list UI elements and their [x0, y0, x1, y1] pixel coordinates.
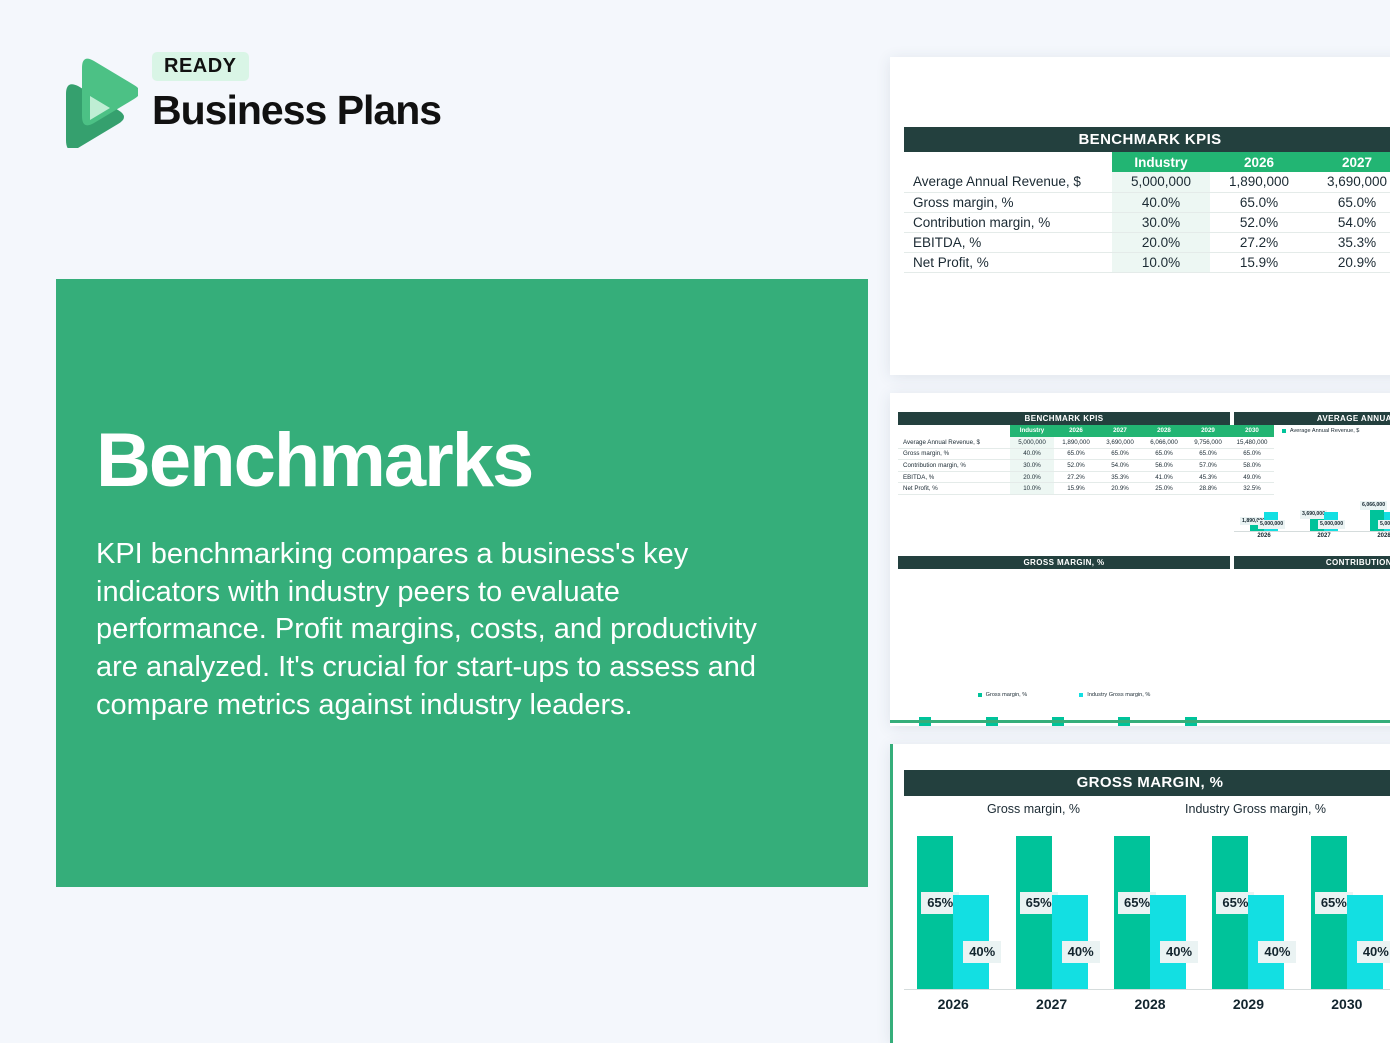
table-cell: 54.0%	[1308, 212, 1390, 232]
chart-bars: 65%40%	[898, 709, 964, 726]
table-row: EBITDA, %20.0%27.2%35.3%41.0%45.3%49.0%	[898, 471, 1274, 483]
benchmark-kpis-table: Industry20262027202820292030 Average Ann…	[904, 152, 1390, 273]
chart-plot: 65%40%65%40%65%40%65%40%65%40%	[898, 709, 1230, 726]
accent-rule	[890, 720, 1390, 723]
table-cell: 35.3%	[1308, 232, 1390, 252]
x-axis-tick: 2026	[1234, 533, 1294, 539]
table-header-row: Industry20262027202820292030	[898, 425, 1274, 437]
table-cell: 56.0%	[1142, 460, 1186, 472]
bar-industry: 40%	[1052, 895, 1088, 989]
mini-kpi-table-wrapper: Industry20262027202820292030 Average Ann…	[898, 425, 1274, 495]
chart-bars: 65%40%	[1164, 709, 1230, 726]
table-header-row: Industry20262027202820292030	[904, 152, 1390, 172]
legend-label: Average Annual Revenue, $	[1290, 428, 1360, 434]
table-cell: 40.0%	[1112, 192, 1210, 212]
mini-kpi-table-title: BENCHMARK KPIS	[898, 412, 1230, 425]
chart-bars: 65%40%	[1097, 709, 1163, 726]
table-cell: 27.2%	[1054, 471, 1098, 483]
table-cell: 1,890,000	[1210, 172, 1308, 192]
table-row: Contribution margin, %30.0%52.0%54.0%56.…	[898, 460, 1274, 472]
table-body: Average Annual Revenue, $5,000,0001,890,…	[904, 172, 1390, 272]
table-cell: 35.3%	[1098, 471, 1142, 483]
gross-margin-chart-title-mini: GROSS MARGIN, %	[898, 556, 1230, 569]
legend-swatch-primary	[978, 693, 982, 697]
table-cell: 65.0%	[1308, 192, 1390, 212]
table-cell: 27.2%	[1210, 232, 1308, 252]
table-header-2027: 2027	[1098, 425, 1142, 437]
bar-data-label: 5,000,000	[1258, 520, 1285, 529]
table-row: Gross margin, %40.0%65.0%65.0%65.0%65.0%…	[904, 192, 1390, 212]
row-label: Net Profit, %	[898, 483, 1010, 495]
bar-data-label: 5,000,000	[1378, 520, 1390, 529]
ready-badge: READY	[152, 52, 249, 81]
legend-label: Industry Gross margin, %	[1087, 692, 1150, 698]
chart-bars: 6,066,0005,000,000	[1354, 471, 1390, 531]
table-cell: 20.0%	[1112, 232, 1210, 252]
dashboard-overview-card: BENCHMARK KPIS Industry20262027202820292…	[890, 393, 1390, 726]
bar-company: 65%	[1114, 836, 1150, 989]
table-cell: 20.9%	[1308, 252, 1390, 272]
chart-group: 65%40%	[898, 709, 964, 726]
legend-label: Industry Gross margin, %	[1185, 802, 1326, 816]
bar-industry: 5,000,000	[1264, 512, 1278, 531]
table-cell: 65.0%	[1142, 448, 1186, 460]
table-cell: 65.0%	[1098, 448, 1142, 460]
chart-legend: Gross margin, %Industry Gross margin, %	[898, 689, 1230, 701]
page-title: Benchmarks	[96, 423, 532, 499]
bar-data-label: 40%	[963, 941, 1001, 963]
chart-group: 65%40%	[1101, 824, 1199, 989]
legend-item-industry-gross-margin: Industry Gross margin, %	[1172, 802, 1326, 816]
bar-industry: 40%	[1347, 895, 1383, 989]
brand-name: Business Plans	[152, 90, 441, 131]
chart-plot: 65%40%65%40%65%40%65%40%65%40%	[904, 824, 1390, 989]
bar-industry: 40%	[1248, 895, 1284, 989]
chart-plot: 1,890,0005,000,0003,690,0005,000,0006,06…	[1234, 471, 1390, 531]
table-row: Average Annual Revenue, $5,000,0001,890,…	[904, 172, 1390, 192]
table-cell: 54.0%	[1098, 460, 1142, 472]
bar-data-label: 40%	[1160, 941, 1198, 963]
table-cell: 10.0%	[1010, 483, 1054, 495]
chart-group: 65%40%	[1002, 824, 1100, 989]
x-axis-tick: 2028	[1101, 996, 1199, 1012]
table-header-blank	[898, 425, 1010, 437]
chart-bars: 65%40%	[1298, 824, 1390, 989]
bar-company: 65%	[917, 836, 953, 989]
chart-bars: 65%40%	[1031, 709, 1097, 726]
bar-industry: 5,000,000	[1384, 512, 1390, 531]
hero-description: KPI benchmarking compares a business's k…	[96, 536, 768, 724]
gross-margin-chart-title: GROSS MARGIN, %	[904, 770, 1390, 796]
x-axis-tick: 2030	[1298, 996, 1390, 1012]
legend-item-gross-margin: Gross margin, %	[974, 802, 1080, 816]
bar-data-label: 6,066,000	[1360, 501, 1387, 510]
kpi-table-title: BENCHMARK KPIS	[904, 127, 1390, 152]
gross-margin-card: GROSS MARGIN, % Gross margin, % Industry…	[890, 744, 1390, 1043]
chart-group: 6,066,0005,000,000	[1354, 471, 1390, 531]
table-row: Net Profit, %10.0%15.9%20.9%25.0%28.8%32…	[904, 252, 1390, 272]
table-cell: 28.8%	[1186, 483, 1230, 495]
chart-group: 3,690,0005,000,000	[1294, 471, 1354, 531]
bar-company: 65%	[1016, 836, 1052, 989]
chart-bars: 65%40%	[1002, 824, 1100, 989]
gross-margin-legend: Gross margin, % Industry Gross margin, %	[904, 802, 1390, 816]
table-cell: 65.0%	[1186, 448, 1230, 460]
table-row: Net Profit, %10.0%15.9%20.9%25.0%28.8%32…	[898, 483, 1274, 495]
table-cell: 45.3%	[1186, 471, 1230, 483]
table-cell: 9,756,000	[1186, 437, 1230, 449]
chart-group: 65%40%	[964, 709, 1030, 726]
chart-axis-line	[1234, 531, 1390, 532]
legend-swatch-secondary	[1172, 805, 1181, 814]
legend-swatch-secondary	[1079, 693, 1083, 697]
table-cell: 25.0%	[1142, 483, 1186, 495]
table-cell: 5,000,000	[1112, 172, 1210, 192]
row-label: Contribution margin, %	[898, 460, 1010, 472]
chart-bars: 65%40%	[1101, 824, 1199, 989]
table-cell: 3,690,000	[1308, 172, 1390, 192]
play-triangle-logo-icon	[56, 56, 138, 148]
legend-item: Gross margin, %	[978, 692, 1028, 698]
kpi-table-wrapper: Industry20262027202820292030 Average Ann…	[904, 152, 1390, 273]
bar-data-label: 5,000,000	[1318, 520, 1345, 529]
table-cell: 65.0%	[1210, 192, 1308, 212]
table-row: Average Annual Revenue, $5,000,0001,890,…	[898, 437, 1274, 449]
table-header-blank	[904, 152, 1112, 172]
row-label: Contribution margin, %	[904, 212, 1112, 232]
legend-label: Gross margin, %	[987, 802, 1080, 816]
table-cell: 10.0%	[1112, 252, 1210, 272]
table-cell: 30.0%	[1112, 212, 1210, 232]
chart-axis-line	[904, 989, 1390, 990]
table-header-industry: Industry	[1010, 425, 1054, 437]
chart-bars: 65%40%	[904, 824, 1002, 989]
bar-data-label: 40%	[1357, 941, 1390, 963]
x-axis-tick: 2026	[904, 996, 1002, 1012]
table-header-2027: 2027	[1308, 152, 1390, 172]
table-header-2026: 2026	[1210, 152, 1308, 172]
legend-swatch-primary	[1282, 429, 1286, 433]
bar-industry: 40%	[1150, 895, 1186, 989]
brand-wordmark: READY Business Plans	[152, 52, 441, 131]
table-cell: 5,000,000	[1010, 437, 1054, 449]
table-cell: 15.9%	[1210, 252, 1308, 272]
hero-panel: Benchmarks KPI benchmarking compares a b…	[56, 279, 868, 887]
table-cell: 40.0%	[1010, 448, 1054, 460]
legend-swatch-primary	[974, 805, 983, 814]
table-header-2029: 2029	[1186, 425, 1230, 437]
chart-bars: 1,890,0005,000,000	[1234, 471, 1294, 531]
table-cell: 52.0%	[1210, 212, 1308, 232]
table-cell: 6,066,000	[1142, 437, 1186, 449]
x-axis-tick: 2027	[1294, 533, 1354, 539]
chart-group: 65%40%	[1199, 824, 1297, 989]
table-header-industry: Industry	[1112, 152, 1210, 172]
legend-item: Industry Gross margin, %	[1079, 692, 1150, 698]
contribution-margin-chart-title: CONTRIBUTION MARGIN, %	[1234, 556, 1390, 569]
row-label: Average Annual Revenue, $	[904, 172, 1112, 192]
row-label: Gross margin, %	[904, 192, 1112, 212]
gross-margin-chart-large: 65%40%65%40%65%40%65%40%65%40%2026202720…	[904, 824, 1390, 1019]
average-annual-revenue-chart: Average Annual Revenue, $Industry Averag…	[1234, 425, 1390, 545]
legend-item: Average Annual Revenue, $	[1282, 428, 1360, 434]
table-cell: 20.9%	[1098, 483, 1142, 495]
chart-legend: Average Annual Revenue, $Industry Averag…	[1234, 425, 1390, 437]
chart-x-axis: 20262027202820292030	[1234, 533, 1390, 539]
x-axis-tick: 2029	[1199, 996, 1297, 1012]
bar-data-label: 40%	[1258, 941, 1296, 963]
chart-group: 1,890,0005,000,000	[1234, 471, 1294, 531]
chart-group: 65%40%	[1097, 709, 1163, 726]
brand-logo: READY Business Plans	[56, 52, 476, 152]
chart-group: 65%40%	[1298, 824, 1390, 989]
table-cell: 57.0%	[1186, 460, 1230, 472]
table-header-2026: 2026	[1054, 425, 1098, 437]
x-axis-tick: 2027	[1002, 996, 1100, 1012]
chart-x-axis: 20262027202820292030	[904, 996, 1390, 1012]
row-label: Net Profit, %	[904, 252, 1112, 272]
table-cell: 1,890,000	[1054, 437, 1098, 449]
table-cell: 52.0%	[1054, 460, 1098, 472]
row-label: Gross margin, %	[898, 448, 1010, 460]
table-cell: 3,690,000	[1098, 437, 1142, 449]
chart-group: 65%40%	[904, 824, 1002, 989]
benchmark-kpis-card: BENCHMARK KPIS Industry20262027202820292…	[890, 57, 1390, 375]
table-header-2028: 2028	[1142, 425, 1186, 437]
table-cell: 41.0%	[1142, 471, 1186, 483]
table-body: Average Annual Revenue, $5,000,0001,890,…	[898, 437, 1274, 495]
chart-bars: 65%40%	[964, 709, 1030, 726]
bar-data-label: 40%	[1062, 941, 1100, 963]
revenue-chart-title: AVERAGE ANNUAL REVENUE, $	[1234, 412, 1390, 425]
chart-bars: 3,690,0005,000,000	[1294, 471, 1354, 531]
table-row: Gross margin, %40.0%65.0%65.0%65.0%65.0%…	[898, 448, 1274, 460]
chart-group: 65%40%	[1031, 709, 1097, 726]
table-row: Contribution margin, %30.0%52.0%54.0%56.…	[904, 212, 1390, 232]
bar-company: 65%	[1212, 836, 1248, 989]
row-label: EBITDA, %	[898, 471, 1010, 483]
table-cell: 20.0%	[1010, 471, 1054, 483]
bar-industry: 5,000,000	[1324, 512, 1338, 531]
x-axis-tick: 2028	[1354, 533, 1390, 539]
bar-industry: 40%	[953, 895, 989, 989]
table-cell: 15.9%	[1054, 483, 1098, 495]
row-label: Average Annual Revenue, $	[898, 437, 1010, 449]
table-cell: 65.0%	[1054, 448, 1098, 460]
row-label: EBITDA, %	[904, 232, 1112, 252]
bar-company: 65%	[1311, 836, 1347, 989]
accent-rule-vertical	[890, 744, 893, 1043]
chart-bars: 65%40%	[1199, 824, 1297, 989]
benchmark-kpis-table-mini: Industry20262027202820292030 Average Ann…	[898, 425, 1274, 495]
chart-group: 65%40%	[1164, 709, 1230, 726]
table-cell: 30.0%	[1010, 460, 1054, 472]
legend-label: Gross margin, %	[986, 692, 1028, 698]
table-row: EBITDA, %20.0%27.2%35.3%41.0%45.3%49.0%	[904, 232, 1390, 252]
